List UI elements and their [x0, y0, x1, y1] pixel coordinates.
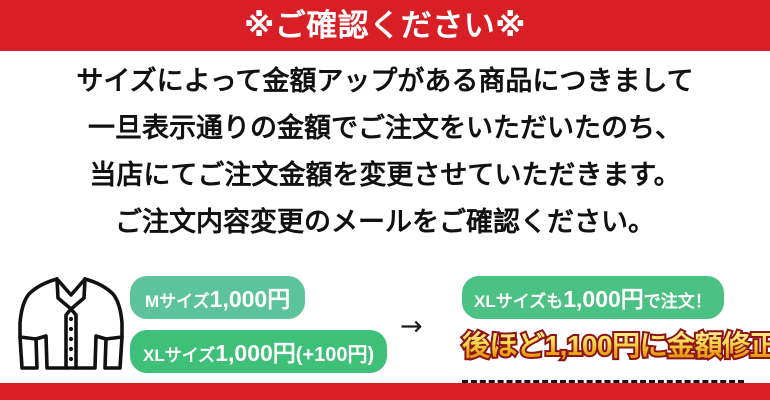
pill-xl-order-notice: XLサイズも1,000円で注文！ [462, 276, 724, 319]
notice-banner-page: ※ご確認ください※ サイズによって金額アップがある商品につきまして 一旦表示通り… [0, 0, 770, 400]
pill-order-suffix: で注文！ [644, 292, 712, 311]
message-line-3: 当店にてご注文金額を変更させていただきます。 [0, 152, 770, 199]
pill-xl-size-price: XLサイズ1,000円(+100円) [130, 330, 387, 373]
pill-xl-size-label: XLサイズ [143, 346, 215, 365]
price-correction-text: 後ほど1,100円に金額修正 [462, 329, 770, 363]
pill-m-price: 1,000円 [210, 286, 291, 312]
message-line-2: 一旦表示通りの金額でご注文をいただいたのち、 [0, 105, 770, 152]
price-correction-notice: 後ほど1,100円に金額修正 後ほど1,100円に金額修正 [462, 329, 762, 365]
bottom-red-banner [0, 383, 770, 400]
notice-message-block: サイズによって金額アップがある商品につきまして 一旦表示通りの金額でご注文をいた… [0, 58, 770, 246]
pill-m-size-label: Mサイズ [145, 292, 210, 311]
after-price-column: XLサイズも1,000円で注文！ 後ほど1,100円に金額修正 後ほど1,100… [462, 276, 762, 365]
right-arrow-icon: → [400, 313, 423, 340]
dress-shirt-icon [16, 273, 126, 378]
pill-xl-surcharge: (+100円) [296, 344, 374, 366]
pill-xl-price: 1,000円 [215, 340, 296, 366]
pill-order-price: 1,000円 [563, 286, 644, 312]
price-comparison-area: Mサイズ1,000円 XLサイズ1,000円(+100円) → XLサイズも1,… [0, 268, 770, 383]
before-price-column: Mサイズ1,000円 XLサイズ1,000円(+100円) [130, 276, 395, 373]
top-red-banner: ※ご確認ください※ [0, 0, 770, 51]
pill-m-size-price: Mサイズ1,000円 [130, 276, 305, 319]
pill-order-size-label: XLサイズ [474, 292, 546, 311]
pill-order-particle: も [546, 292, 563, 311]
message-line-4: ご注文内容変更のメールをご確認ください。 [0, 199, 770, 246]
message-line-1: サイズによって金額アップがある商品につきまして [0, 58, 770, 105]
banner-title: ※ご確認ください※ [244, 10, 526, 41]
